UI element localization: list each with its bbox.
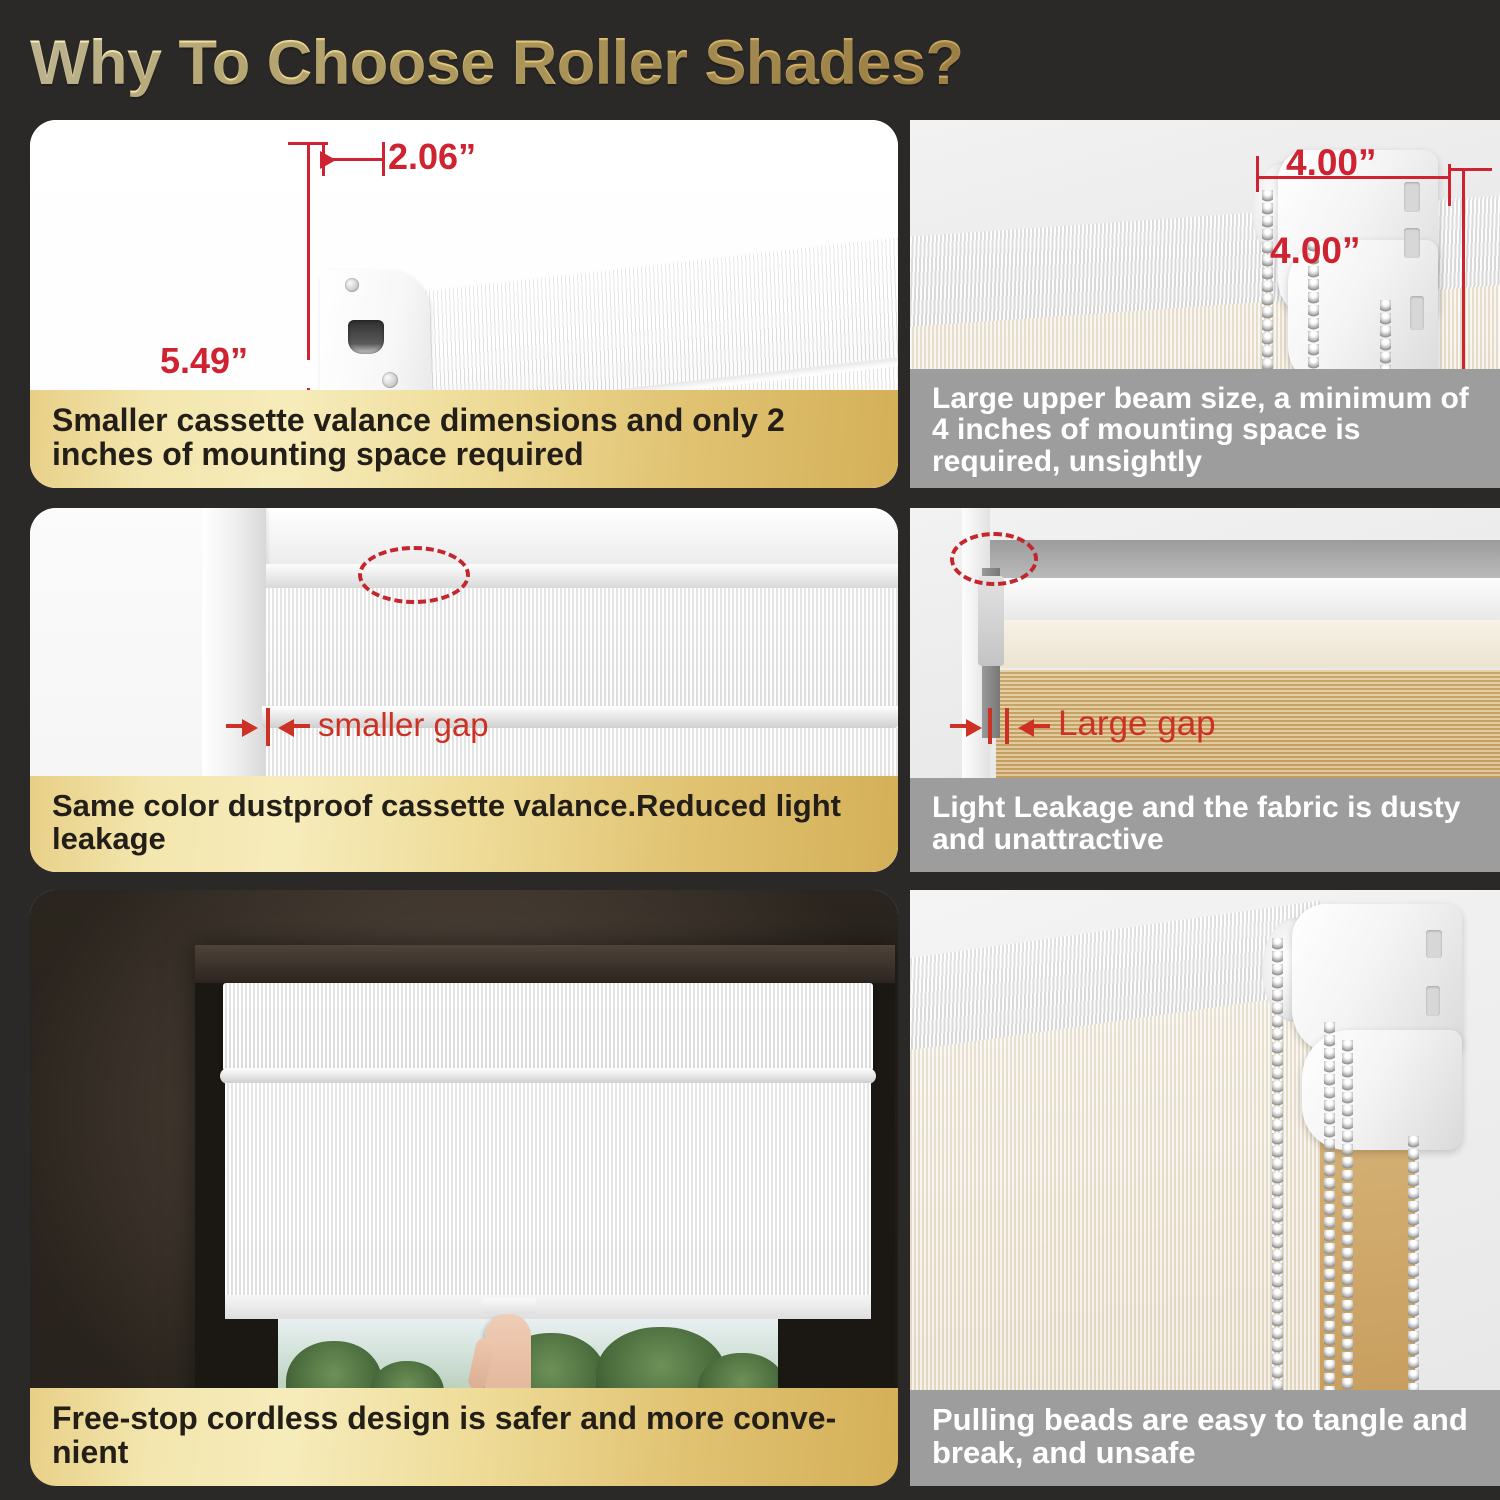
bracket-small bbox=[978, 576, 1004, 666]
dim-height-tick-top bbox=[288, 142, 328, 145]
cassette-valance bbox=[223, 983, 873, 1071]
gap-label: smaller gap bbox=[318, 706, 489, 744]
window-frame-top bbox=[202, 508, 898, 564]
gap-arrow-left-tail bbox=[950, 724, 968, 728]
gap-arrow-right-tail bbox=[1034, 724, 1050, 728]
dim-width-label: 2.06” bbox=[388, 136, 476, 178]
highlight-ellipse-icon bbox=[950, 532, 1038, 586]
beam-dim-height-tick-top bbox=[1448, 168, 1492, 171]
panel-free-stop-cordless-design: Free-stop cordless design is safer and m… bbox=[30, 890, 898, 1486]
gap-arrow-right-icon bbox=[278, 719, 294, 737]
shade-fabric bbox=[225, 1083, 871, 1313]
panel-caption: Smaller cassette valance dimensions and … bbox=[30, 390, 898, 488]
panel-cassette-valance-dimensions: 2.06” 5.49” Smaller cassette valance dim… bbox=[30, 120, 898, 488]
gap-arrow-left-icon bbox=[242, 719, 258, 737]
gap-tick-a bbox=[988, 708, 992, 744]
shade-pull-tab bbox=[482, 1298, 536, 1314]
beam-dim-height-label: 4.00” bbox=[1270, 230, 1361, 272]
dim-width-arrow-left bbox=[320, 151, 336, 169]
highlight-ellipse-icon bbox=[358, 546, 470, 604]
window-header-band bbox=[195, 945, 895, 983]
panel-caption: Large upper beam size, a minimum of 4 in… bbox=[910, 369, 1500, 488]
gap-tick-mark bbox=[266, 708, 270, 746]
bracket-notch-1 bbox=[1426, 930, 1442, 958]
valance-rail bbox=[220, 1068, 876, 1084]
shade-bottom-rail bbox=[225, 1295, 871, 1319]
bracket-notch-2 bbox=[1404, 228, 1420, 258]
panel-pulling-beads-tangle: Pulling beads are easy to tangle and bre… bbox=[910, 890, 1500, 1486]
gap-label: Large gap bbox=[1058, 704, 1216, 744]
bracket-notch-1 bbox=[1404, 182, 1420, 212]
bracket-notch-2 bbox=[1426, 986, 1440, 1016]
page-title-text: Why To Choose Roller Shades? bbox=[30, 27, 963, 99]
panel-caption: Same color dustproof cassette valance.Re… bbox=[30, 776, 898, 872]
bead-chain-2 bbox=[1324, 1022, 1335, 1442]
bead-chain-3 bbox=[1342, 1040, 1353, 1440]
beam-dim-width-label: 4.00” bbox=[1286, 142, 1377, 184]
gap-arrow-left-tail bbox=[226, 724, 244, 728]
endcap-slot bbox=[348, 320, 384, 354]
bracket-notch-3 bbox=[1410, 296, 1424, 330]
gap-arrow-left-icon bbox=[966, 719, 982, 737]
shade-fabric-upper bbox=[266, 588, 898, 708]
endcap-screw-top bbox=[345, 278, 359, 292]
panel-dustproof-cassette-valance: smaller gap Same color dustproof cassett… bbox=[30, 508, 898, 872]
bead-chain-1 bbox=[1272, 938, 1283, 1438]
panel-caption: Light Leakage and the fabric is dusty an… bbox=[910, 778, 1500, 872]
page-title: Why To Choose Roller Shades? bbox=[30, 10, 1470, 115]
roller-tube bbox=[990, 578, 1500, 620]
fabric-top-edge bbox=[994, 620, 1500, 668]
beam-dim-width-tick-left bbox=[1256, 156, 1259, 192]
panel-large-upper-beam: 4.00” 4.00” Large upper beam size, a min… bbox=[910, 120, 1500, 488]
panel-caption: Pulling beads are easy to tangle and bre… bbox=[910, 1390, 1500, 1486]
gap-tick-b bbox=[1005, 708, 1009, 744]
dim-height-line-upper bbox=[307, 142, 310, 360]
panel-caption: Free-stop cordless design is safer and m… bbox=[30, 1388, 898, 1486]
dim-height-label: 5.49” bbox=[160, 340, 248, 382]
gap-arrow-right-tail bbox=[294, 724, 310, 728]
upper-beam-shadow bbox=[990, 540, 1500, 582]
gap-arrow-right-icon bbox=[1018, 719, 1034, 737]
endcap-screw-mid bbox=[382, 372, 398, 388]
panel-light-leakage-dusty-fabric: Large gap Light Leakage and the fabric i… bbox=[910, 508, 1500, 872]
